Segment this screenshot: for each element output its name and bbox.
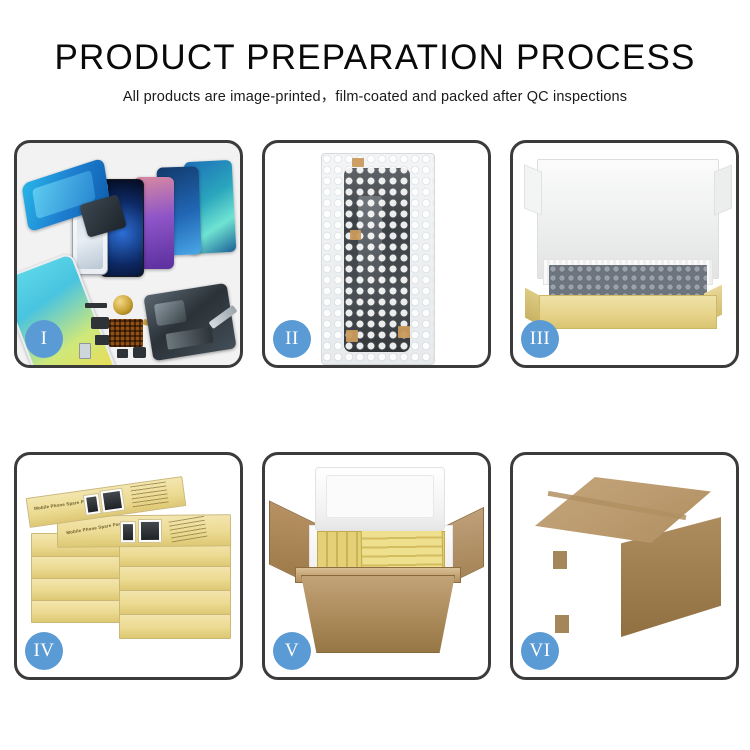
box-window-2	[99, 488, 125, 514]
process-step-3: III	[510, 140, 739, 368]
step-badge-2: II	[273, 320, 311, 358]
stack-box-l4	[31, 577, 129, 601]
box-window-4	[138, 519, 162, 543]
step-badge-6: VI	[521, 632, 559, 670]
stack-box-r4	[119, 589, 231, 615]
carton-face-left	[527, 521, 623, 635]
tape-piece-br-icon	[398, 326, 410, 338]
box-label-text-2: Mobile Phone Spare Parts	[66, 521, 125, 536]
tape-piece-top-icon	[352, 158, 364, 167]
step-badge-1: I	[25, 320, 63, 358]
page-subtitle: All products are image-printed，film-coat…	[0, 88, 750, 106]
tape-piece-mid-icon	[350, 230, 361, 240]
header: PRODUCT PREPARATION PROCESS All products…	[0, 38, 750, 106]
box-front-panel	[539, 295, 717, 329]
battery-cell-icon	[79, 343, 91, 359]
bubble-wrap-bag	[321, 153, 435, 365]
process-step-2: II	[262, 140, 491, 368]
foam-lid-open	[315, 467, 445, 531]
step-badge-3: III	[521, 320, 559, 358]
box-stack: Mobile Phone Spare Parts Mobile Phone Sp…	[27, 473, 233, 663]
stack-box-r3	[119, 565, 231, 591]
box-window-3	[120, 521, 136, 543]
bubble-texture	[322, 154, 434, 364]
component-block-icon	[91, 317, 109, 329]
gold-chip-icon	[113, 295, 133, 315]
stack-box-l5	[31, 599, 129, 623]
process-step-5: V	[262, 452, 491, 680]
component-square-icon	[133, 347, 146, 358]
box-window-1	[83, 493, 102, 516]
process-step-4: Mobile Phone Spare Parts Mobile Phone Sp…	[14, 452, 243, 680]
process-step-1: I	[14, 140, 243, 368]
stack-box-r5	[119, 613, 231, 639]
step-badge-4: IV	[25, 632, 63, 670]
product-preparation-infographic: PRODUCT PREPARATION PROCESS All products…	[0, 0, 750, 750]
carton-tape-upper	[553, 551, 567, 569]
component-bar-icon	[85, 303, 107, 308]
stack-box-l3	[31, 555, 129, 579]
tape-piece-bl-icon	[346, 330, 358, 342]
component-small-icon	[95, 335, 109, 345]
step-badge-5: V	[273, 632, 311, 670]
carton-tape-lower	[555, 615, 569, 633]
box-spec-lines-1	[130, 481, 169, 508]
page-title: PRODUCT PREPARATION PROCESS	[0, 38, 750, 78]
connector-grid-icon	[109, 319, 143, 347]
process-step-6: VI	[510, 452, 739, 680]
carton-body	[301, 575, 455, 653]
component-tiny-icon	[117, 349, 128, 358]
box-spec-lines-2	[168, 516, 207, 544]
process-step-grid: I II	[14, 140, 736, 680]
bubble-wrapped-contents	[549, 265, 707, 299]
